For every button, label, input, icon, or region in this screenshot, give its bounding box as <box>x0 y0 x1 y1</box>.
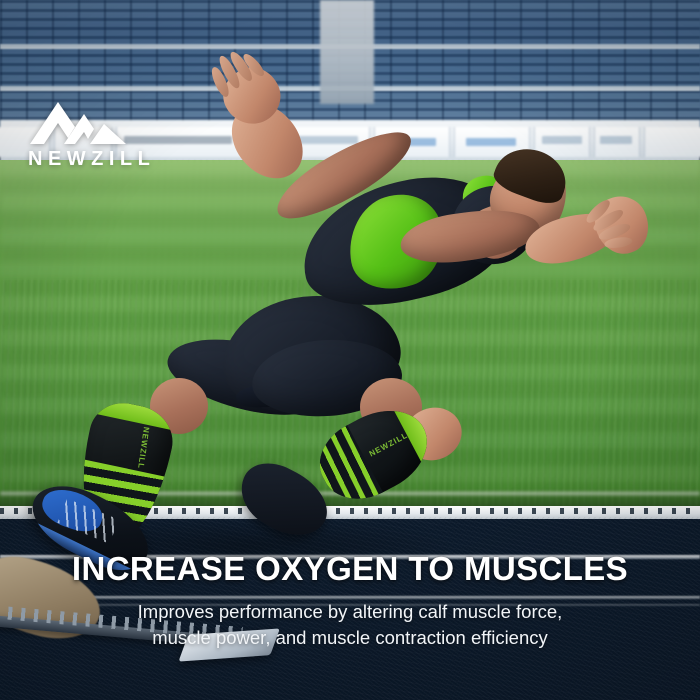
advertisement-banner: NEWZILL NEWZILL <box>0 0 700 700</box>
brand-wordmark: NEWZILL <box>28 149 160 169</box>
brand-logo: NEWZILL <box>28 98 160 169</box>
subheadline-block: Improves performance by altering calf mu… <box>0 599 700 650</box>
sock-brand-text: NEWZILL <box>368 431 410 459</box>
caption-block: INCREASE OXYGEN TO MUSCLES Improves perf… <box>0 552 700 650</box>
subheadline-line-2: muscle power, and muscle contraction eff… <box>0 625 700 651</box>
sock-brand-text: NEWZILL <box>136 426 151 469</box>
mountain-peak-icon <box>28 98 128 146</box>
subheadline-line-1: Improves performance by altering calf mu… <box>0 599 700 625</box>
headline-text: INCREASE OXYGEN TO MUSCLES <box>0 552 700 586</box>
